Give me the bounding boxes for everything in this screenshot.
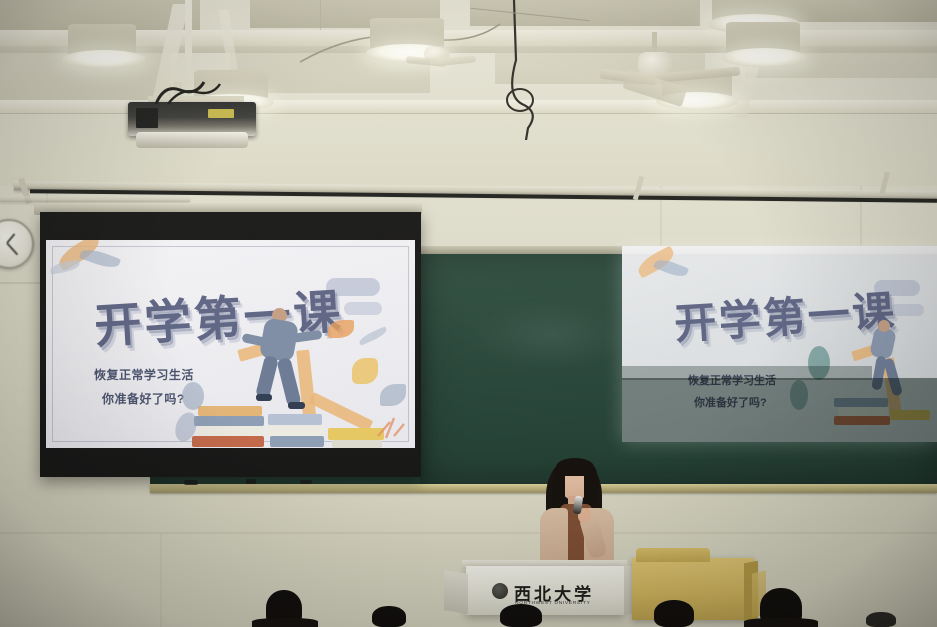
slide-illustration xyxy=(216,302,406,448)
audience-head xyxy=(372,606,406,627)
university-logo xyxy=(492,583,508,599)
projection-dim-region xyxy=(622,366,872,380)
spark-icon xyxy=(376,412,410,440)
fan-icon xyxy=(410,42,470,72)
lectern[interactable]: 西北大学 NORTHWEST UNIVERSITY xyxy=(466,566,624,615)
projection-dim-region xyxy=(622,378,937,442)
audience-shoulders xyxy=(744,618,818,627)
slide-content: 开学第一课 恢复正常学习生活 你准备好了吗? xyxy=(46,240,415,448)
audience-head xyxy=(500,604,542,627)
projector-cables-icon xyxy=(146,80,242,106)
projection-overlay-right: 开学第一课 恢复正常学习生活 你准备好了吗? xyxy=(622,246,937,442)
audience-shoulders xyxy=(252,618,318,627)
audience-head xyxy=(654,600,694,627)
audience-head xyxy=(866,612,896,627)
fan-icon xyxy=(606,32,746,106)
classroom-photo-scene: 开学第一课 恢复正常学习生活 你准备好了吗? xyxy=(0,0,937,627)
ceiling xyxy=(0,0,937,186)
projector-icon xyxy=(118,92,268,154)
slide-subtitle-line1: 恢复正常学习生活 xyxy=(94,366,194,383)
screen-surface: 开学第一课 恢复正常学习生活 你准备好了吗? xyxy=(46,240,415,448)
lamp-icon xyxy=(62,24,148,70)
projection-screen[interactable]: 开学第一课 恢复正常学习生活 你准备好了吗? xyxy=(40,212,421,477)
slide-subtitle-line2: 你准备好了吗? xyxy=(102,390,185,407)
